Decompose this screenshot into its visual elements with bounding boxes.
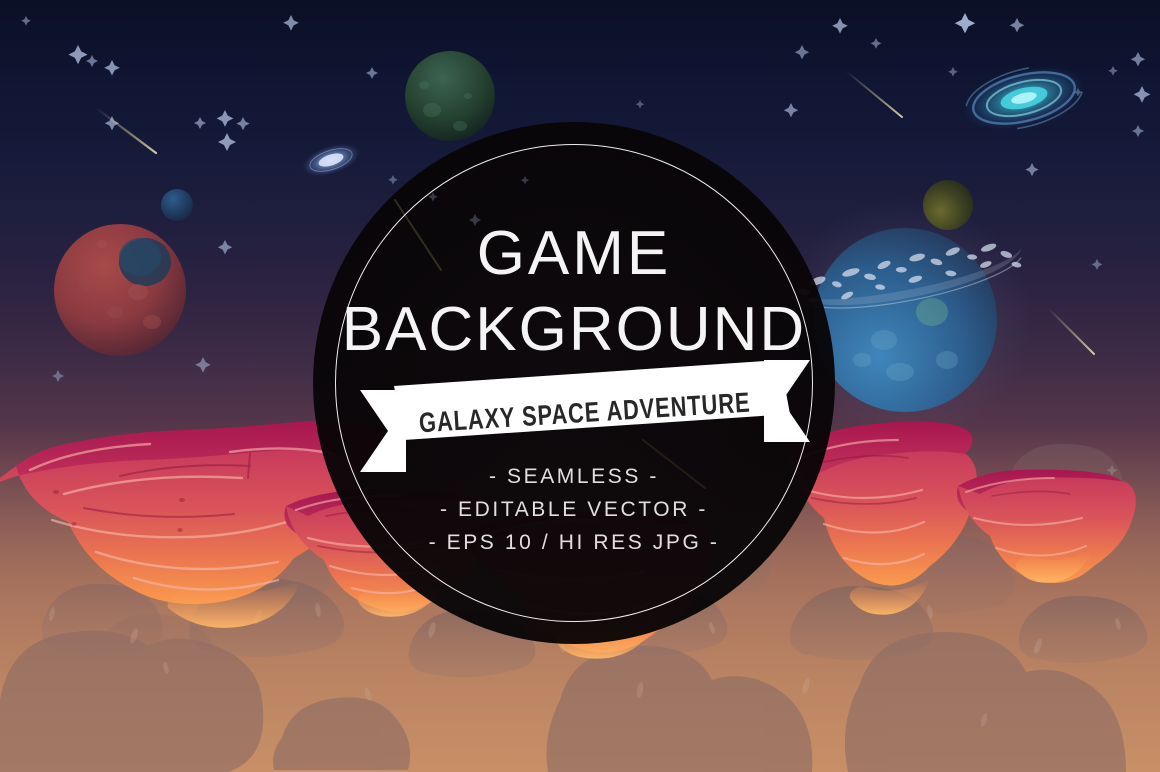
game-background-artwork: GAME BACKGROUND GALAXY SPACE ADVENTURE -… — [0, 0, 1160, 772]
platform-far-right — [957, 470, 1136, 583]
ribbon-banner: GALAXY SPACE ADVENTURE — [360, 352, 810, 478]
subline-seamless: - SEAMLESS - — [489, 465, 659, 489]
subline-editable-vector: - EDITABLE VECTOR - — [440, 498, 708, 522]
ribbon-label: GALAXY SPACE ADVENTURE — [418, 387, 751, 440]
subline-eps-jpg: - EPS 10 / HI RES JPG - — [429, 531, 720, 555]
title-line-game: GAME — [477, 223, 672, 285]
badge-sublines: - SEAMLESS - - EDITABLE VECTOR - - EPS 1… — [313, 465, 835, 555]
